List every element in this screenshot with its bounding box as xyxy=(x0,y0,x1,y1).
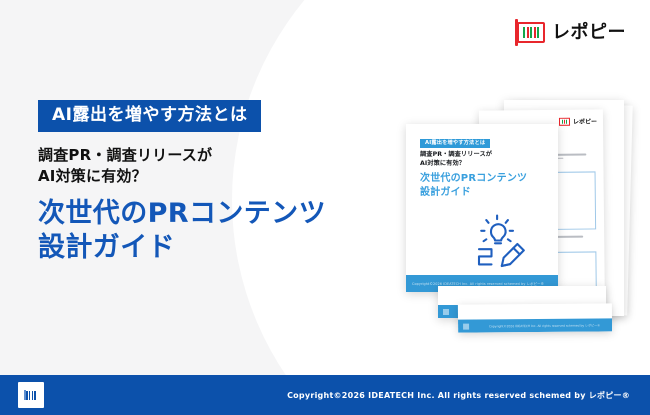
document-stack-preview[interactable]: レポピー 4 xyxy=(372,96,650,352)
cover-title-line-1: 次世代のPRコンテンツ xyxy=(420,172,527,186)
brand-name: レポピー xyxy=(552,24,626,42)
hero-title-line-1: 次世代のPRコンテンツ xyxy=(38,197,368,232)
lightbulb-pencil-icon xyxy=(470,212,532,270)
slide-canvas: レポピー AI露出を増やす方法とは 調査PR・調査リリースが AI対策に有効？ … xyxy=(0,0,650,415)
hero-subtitle-line-2: AI対策に有効？ xyxy=(38,166,368,187)
cover-title-line-2: 設計ガイド xyxy=(420,186,527,200)
footer-barcode-book-icon xyxy=(18,382,44,408)
barcode-book-icon xyxy=(559,117,570,125)
footer-copyright: Copyright©2026 IDEATECH Inc. All rights … xyxy=(287,390,630,401)
document-lower-copyright: Copyright©2026 IDEATECH Inc. All rights … xyxy=(489,323,600,328)
hero-eyebrow-badge: AI露出を増やす方法とは xyxy=(38,100,261,132)
document-page-lower-2: Copyright©2026 IDEATECH Inc. All rights … xyxy=(458,303,612,332)
cover-subtitle: 調査PR・調査リリースが AI対策に有効？ xyxy=(420,151,492,168)
hero-subtitle: 調査PR・調査リリースが AI対策に有効？ xyxy=(38,145,368,188)
document-cover-page[interactable]: AI露出を増やす方法とは 調査PR・調査リリースが AI対策に有効？ 次世代のP… xyxy=(406,124,558,292)
document-lower-footer-2: Copyright©2026 IDEATECH Inc. All rights … xyxy=(458,318,612,332)
cover-eyebrow-badge: AI露出を増やす方法とは xyxy=(420,139,490,148)
hero-text-block: AI露出を増やす方法とは 調査PR・調査リリースが AI対策に有効？ 次世代のP… xyxy=(38,100,368,266)
hero-title-line-2: 設計ガイド xyxy=(38,231,368,266)
hero-title: 次世代のPRコンテンツ 設計ガイド xyxy=(38,197,368,266)
cover-subtitle-line-1: 調査PR・調査リリースが xyxy=(420,151,492,160)
document-lower-chip-1 xyxy=(443,309,449,315)
barcode-book-icon xyxy=(517,22,545,43)
document-brand-logo: レポピー xyxy=(559,116,597,125)
cover-subtitle-line-2: AI対策に有効？ xyxy=(420,160,492,169)
page-footer: Copyright©2026 IDEATECH Inc. All rights … xyxy=(0,375,650,415)
hero-subtitle-line-1: 調査PR・調査リリースが xyxy=(38,145,368,166)
footer-icon-bars xyxy=(26,391,36,400)
cover-title: 次世代のPRコンテンツ 設計ガイド xyxy=(420,172,527,200)
document-lower-chip-2 xyxy=(463,323,469,329)
brand-logo[interactable]: レポピー xyxy=(517,22,626,43)
document-brand-name: レポピー xyxy=(573,116,597,125)
